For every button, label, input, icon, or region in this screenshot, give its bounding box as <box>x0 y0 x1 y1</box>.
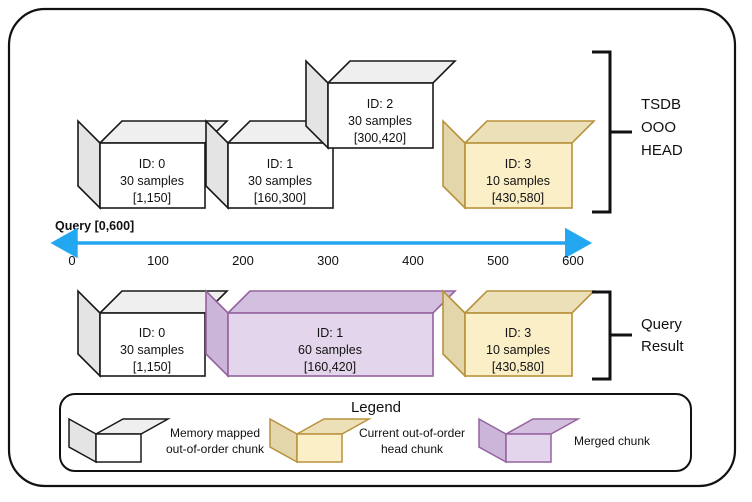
chunk-range-label: [1,150] <box>133 360 171 374</box>
chunk-range-label: [1,150] <box>133 191 171 205</box>
chunk-samples-label: 30 samples <box>120 174 184 188</box>
chunk-range-label: [160,420] <box>304 360 356 374</box>
chunk-id-label: ID: 1 <box>267 157 293 171</box>
legend-box-front-face <box>506 434 551 462</box>
chunk-id-label: ID: 0 <box>139 326 165 340</box>
chunk-id-label: ID: 3 <box>505 157 531 171</box>
chunk-box-top-face <box>465 121 594 143</box>
chunk-range-label: [430,580] <box>492 360 544 374</box>
bracket-label-line: Query <box>641 316 682 333</box>
chunk-id-label: ID: 2 <box>367 97 393 111</box>
legend-item-label: Memory mapped <box>170 426 260 440</box>
axis-tick-label: 100 <box>147 253 169 268</box>
axis-tick-label: 400 <box>402 253 424 268</box>
axis-tick-label: 600 <box>562 253 584 268</box>
chunk-id-label: ID: 0 <box>139 157 165 171</box>
legend-item-label: out-of-order chunk <box>166 442 265 456</box>
chunk-id-label: ID: 3 <box>505 326 531 340</box>
chunk-box-top-face <box>465 291 594 313</box>
bracket-label-line: Result <box>641 338 684 355</box>
bracket-label-line: HEAD <box>641 142 683 159</box>
chunk-box-top-face <box>328 61 455 83</box>
legend-box-front-face <box>297 434 342 462</box>
chunk-samples-label: 10 samples <box>486 174 550 188</box>
diagram-canvas: ID: 0 30 samples [1,150] ID: 1 30 sample… <box>0 0 752 502</box>
axis-tick-label: 300 <box>317 253 339 268</box>
bracket-label-line: TSDB <box>641 96 681 113</box>
legend-item-label: Merged chunk <box>574 434 651 448</box>
chunk-box-top-face <box>228 291 455 313</box>
chunk-samples-label: 10 samples <box>486 343 550 357</box>
legend-title: Legend <box>351 399 401 416</box>
legend-box-front-face <box>96 434 141 462</box>
bracket-label-line: OOO <box>641 119 676 136</box>
chunk-id-label: ID: 1 <box>317 326 343 340</box>
chunk-range-label: [160,300] <box>254 191 306 205</box>
axis-tick-label: 0 <box>68 253 75 268</box>
legend-item-label: head chunk <box>381 442 444 456</box>
chunk-samples-label: 30 samples <box>248 174 312 188</box>
chunk-samples-label: 30 samples <box>348 114 412 128</box>
chunk-range-label: [300,420] <box>354 131 406 145</box>
chunk-box-result-1-merged[interactable]: ID: 1 60 samples [160,420] <box>206 291 455 376</box>
axis-tick-label: 500 <box>487 253 509 268</box>
axis-tick-label: 200 <box>232 253 254 268</box>
chunk-range-label: [430,580] <box>492 191 544 205</box>
query-range-label: Query [0,600] <box>55 219 134 233</box>
chunk-samples-label: 30 samples <box>120 343 184 357</box>
chunk-samples-label: 60 samples <box>298 343 362 357</box>
legend-item-label: Current out-of-order <box>359 426 465 440</box>
